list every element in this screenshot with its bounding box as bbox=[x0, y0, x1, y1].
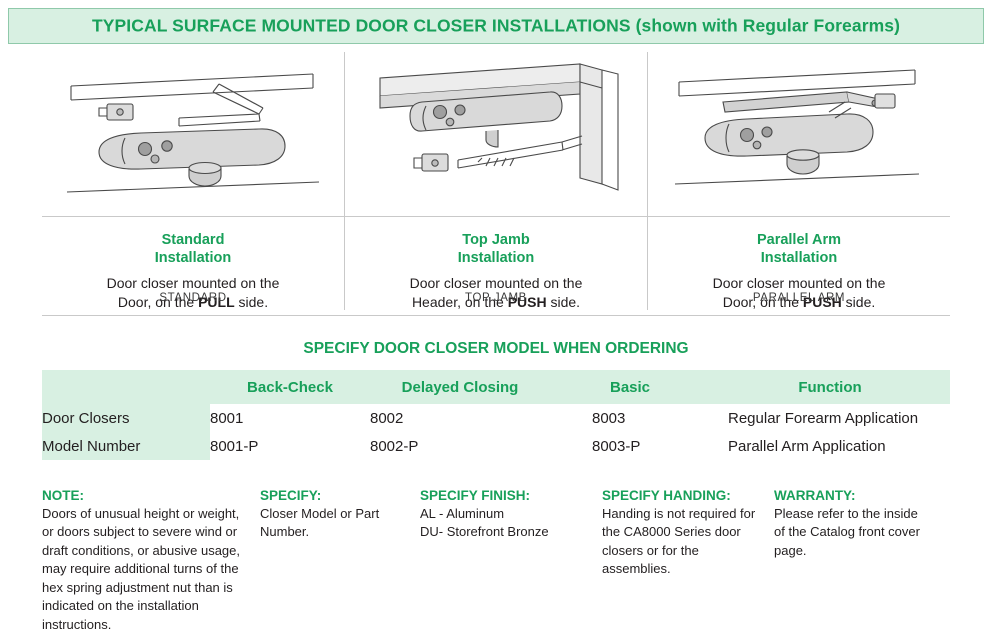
parallel-arm-installation-drawing bbox=[669, 56, 929, 206]
table-row: Model Number 8001-P 8002-P 8003-P Parall… bbox=[42, 432, 950, 460]
table-header-function: Function bbox=[710, 370, 950, 404]
panel-desc-line1: Door closer mounted on the bbox=[713, 275, 886, 291]
cell-delayed-closing-8002p: 8002-P bbox=[370, 432, 550, 460]
table-body: Door Closers 8001 8002 8003 Regular Fore… bbox=[42, 404, 950, 460]
illustration-caption-top-jamb: TOP JAMB bbox=[345, 292, 647, 304]
panel-desc-line1: Door closer mounted on the bbox=[410, 275, 583, 291]
illustration-caption-standard: STANDARD bbox=[42, 292, 344, 304]
note-heading: SPECIFY: bbox=[260, 488, 408, 503]
note-warranty: WARRANTY: Please refer to the inside of … bbox=[774, 488, 934, 631]
note-body: Handing is not required for the CA8000 S… bbox=[602, 505, 762, 579]
note-note: NOTE: Doors of unusual height or weight,… bbox=[42, 488, 260, 631]
panel-divider bbox=[42, 216, 344, 217]
illustration-standard bbox=[42, 56, 344, 216]
panel-parallel-arm-installation: PARALLEL ARM Parallel Arm Installation D… bbox=[647, 52, 950, 310]
row-label-door-closers: Door Closers bbox=[42, 404, 210, 432]
illustration-caption-parallel-arm: PARALLEL ARM bbox=[648, 292, 950, 304]
panel-title-line2: Installation bbox=[155, 250, 232, 266]
note-heading: WARRANTY: bbox=[774, 488, 922, 503]
row-label-model-number: Model Number bbox=[42, 432, 210, 460]
cell-delayed-closing-8002: 8002 bbox=[370, 404, 550, 432]
cell-function-regular-forearm: Regular Forearm Application bbox=[710, 404, 950, 432]
door-closer-model-table: Back-Check Delayed Closing Basic Functio… bbox=[42, 370, 950, 460]
panel-title-line1: Top Jamb bbox=[462, 232, 529, 248]
note-heading: SPECIFY HANDING: bbox=[602, 488, 762, 503]
notes-row: NOTE: Doors of unusual height or weight,… bbox=[42, 488, 962, 631]
table-header-blank bbox=[42, 370, 210, 404]
panel-standard-installation: STANDARD Standard Installation Door clos… bbox=[42, 52, 344, 310]
panel-top-jamb-installation: TOP JAMB Top Jamb Installation Door clos… bbox=[344, 52, 647, 310]
top-jamb-installation-drawing bbox=[366, 56, 626, 206]
cell-back-check-8001p: 8001-P bbox=[210, 432, 370, 460]
panel-title-line1: Parallel Arm bbox=[757, 232, 841, 248]
table-header-basic: Basic bbox=[550, 370, 710, 404]
installation-panels: STANDARD Standard Installation Door clos… bbox=[42, 52, 950, 310]
page-header-banner: TYPICAL SURFACE MOUNTED DOOR CLOSER INST… bbox=[8, 8, 984, 44]
note-heading: SPECIFY FINISH: bbox=[420, 488, 590, 503]
panel-divider bbox=[345, 216, 647, 217]
note-specify-handing: SPECIFY HANDING: Handing is not required… bbox=[602, 488, 774, 631]
illustration-parallel-arm bbox=[648, 56, 950, 216]
note-heading: NOTE: bbox=[42, 488, 248, 503]
note-body: Closer Model or Part Number. bbox=[260, 505, 408, 542]
note-specify-finish: SPECIFY FINISH: AL - Aluminum DU- Storef… bbox=[420, 488, 602, 631]
panel-title-parallel-arm: Parallel Arm Installation bbox=[648, 231, 950, 267]
table-header-back-check: Back-Check bbox=[210, 370, 370, 404]
cell-back-check-8001: 8001 bbox=[210, 404, 370, 432]
specify-section-title: SPECIFY DOOR CLOSER MODEL WHEN ORDERING bbox=[0, 340, 992, 358]
note-body: Doors of unusual height or weight, or do… bbox=[42, 505, 248, 631]
note-body: AL - Aluminum DU- Storefront Bronze bbox=[420, 505, 590, 542]
panel-desc-line1: Door closer mounted on the bbox=[107, 275, 280, 291]
cell-basic-8003p: 8003-P bbox=[550, 432, 710, 460]
table-row: Door Closers 8001 8002 8003 Regular Fore… bbox=[42, 404, 950, 432]
cell-function-parallel-arm: Parallel Arm Application bbox=[710, 432, 950, 460]
standard-installation-drawing bbox=[63, 56, 323, 206]
illustration-top-jamb bbox=[345, 56, 647, 216]
table-header-delayed-closing: Delayed Closing bbox=[370, 370, 550, 404]
table-header-row: Back-Check Delayed Closing Basic Functio… bbox=[42, 370, 950, 404]
table-header: Back-Check Delayed Closing Basic Functio… bbox=[42, 370, 950, 404]
panel-divider bbox=[648, 216, 950, 217]
note-specify: SPECIFY: Closer Model or Part Number. bbox=[260, 488, 420, 631]
panel-title-line1: Standard bbox=[162, 232, 225, 248]
panel-title-standard: Standard Installation bbox=[42, 231, 344, 267]
document-page: TYPICAL SURFACE MOUNTED DOOR CLOSER INST… bbox=[0, 0, 992, 631]
note-body: Please refer to the inside of the Catalo… bbox=[774, 505, 922, 560]
page-title: TYPICAL SURFACE MOUNTED DOOR CLOSER INST… bbox=[92, 16, 900, 37]
panel-title-top-jamb: Top Jamb Installation bbox=[345, 231, 647, 267]
panel-title-line2: Installation bbox=[761, 250, 838, 266]
panel-title-line2: Installation bbox=[458, 250, 535, 266]
cell-basic-8003: 8003 bbox=[550, 404, 710, 432]
section-divider bbox=[42, 315, 950, 316]
